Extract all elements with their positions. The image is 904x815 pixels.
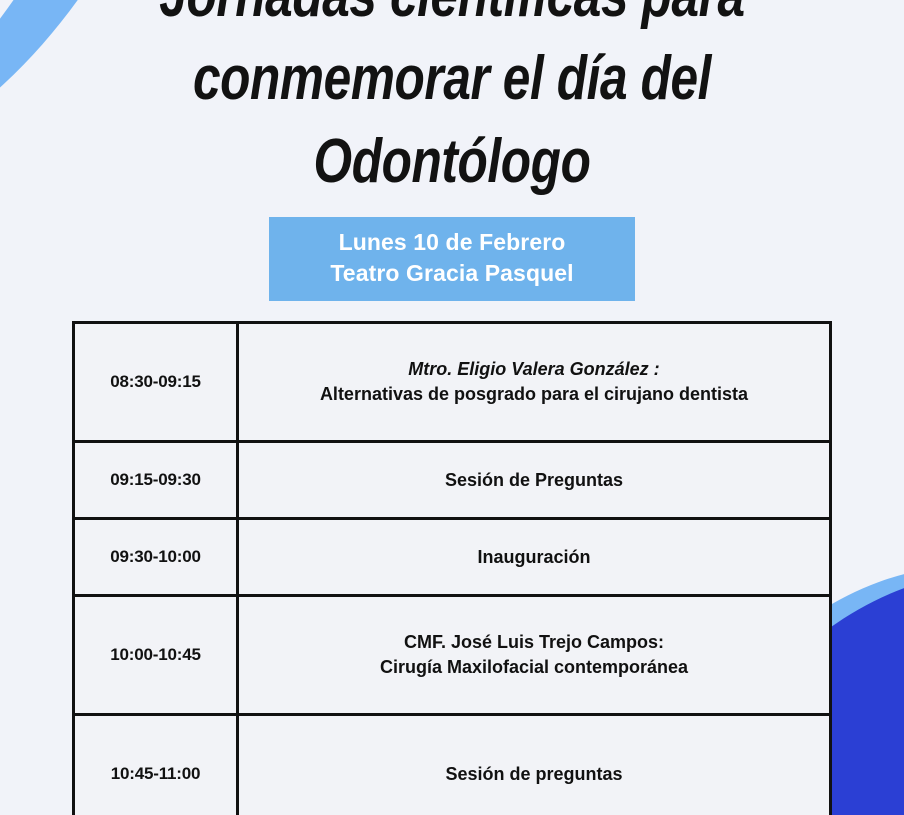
poster-canvas: Jornadas científicas para conmemorar el … — [0, 0, 904, 815]
schedule-description-cell: Mtro. Eligio Valera González :Alternativ… — [238, 323, 831, 442]
schedule-time-cell: 08:30-09:15 — [74, 323, 238, 442]
session-title: Cirugía Maxilofacial contemporánea — [247, 655, 821, 680]
title-line-1: Jornadas científicas para — [138, 0, 765, 37]
schedule-description-cell: Sesión de preguntas — [238, 715, 831, 815]
schedule-table-body: 08:30-09:15Mtro. Eligio Valera González … — [74, 323, 831, 815]
schedule-time-cell: 09:30-10:00 — [74, 519, 238, 596]
schedule-description-cell: CMF. José Luis Trejo Campos:Cirugía Maxi… — [238, 596, 831, 715]
schedule-table: 08:30-09:15Mtro. Eligio Valera González … — [72, 321, 832, 815]
schedule-description-cell: Inauguración — [238, 519, 831, 596]
table-row: 09:30-10:00Inauguración — [74, 519, 831, 596]
event-venue: Teatro Gracia Pasquel — [269, 258, 635, 289]
schedule-time-cell: 10:45-11:00 — [74, 715, 238, 815]
session-title: CMF. José Luis Trejo Campos: — [247, 630, 821, 655]
speaker-name: Mtro. Eligio Valera González : — [247, 357, 821, 382]
event-details-badge: Lunes 10 de Febrero Teatro Gracia Pasque… — [269, 217, 635, 301]
table-row: 09:15-09:30Sesión de Preguntas — [74, 442, 831, 519]
page-title: Jornadas científicas para conmemorar el … — [90, 0, 813, 203]
session-title: Sesión de preguntas — [247, 762, 821, 787]
table-row: 08:30-09:15Mtro. Eligio Valera González … — [74, 323, 831, 442]
schedule-time-cell: 10:00-10:45 — [74, 596, 238, 715]
title-line-3: Odontólogo — [138, 120, 765, 203]
poster-content: Jornadas científicas para conmemorar el … — [0, 0, 904, 815]
event-date: Lunes 10 de Febrero — [269, 227, 635, 258]
table-row: 10:00-10:45CMF. José Luis Trejo Campos:C… — [74, 596, 831, 715]
schedule-time-cell: 09:15-09:30 — [74, 442, 238, 519]
session-title: Inauguración — [247, 545, 821, 570]
table-row: 10:45-11:00Sesión de preguntas — [74, 715, 831, 815]
schedule-description-cell: Sesión de Preguntas — [238, 442, 831, 519]
session-title: Alternativas de posgrado para el cirujan… — [247, 382, 821, 407]
title-line-2: conmemorar el día del — [138, 37, 765, 120]
session-title: Sesión de Preguntas — [247, 468, 821, 493]
